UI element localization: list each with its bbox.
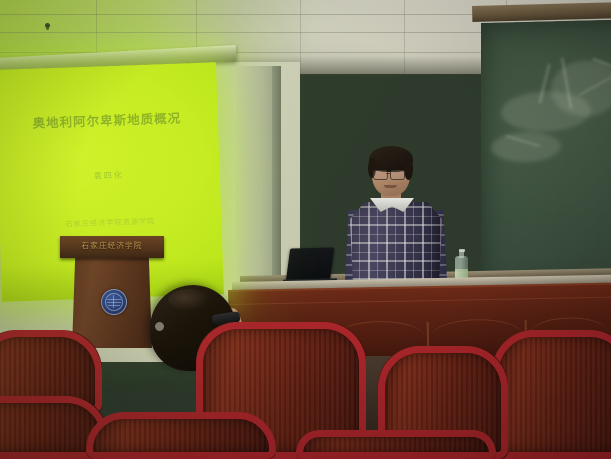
glasses-icon	[390, 170, 405, 180]
audience-hair-highlight	[168, 289, 210, 311]
glasses-bridge	[386, 173, 391, 174]
stage-moulding	[228, 297, 611, 305]
seat	[296, 430, 496, 459]
hair-clip-icon	[155, 322, 164, 331]
slide-title: 奥地利阿尔卑斯地质概况	[0, 106, 218, 133]
blackboard-panel-left	[481, 17, 611, 291]
laptop-icon	[286, 247, 335, 282]
podium-top: 石家庄经济学院	[60, 236, 164, 258]
bottle-cap	[459, 249, 465, 252]
glasses-icon	[373, 170, 388, 180]
seat	[86, 412, 276, 459]
sprinkler-icon	[45, 23, 50, 28]
speaker-person	[340, 150, 452, 295]
slide-author: 袁四化	[0, 166, 220, 185]
lecture-hall-photo: 奥地利阿尔卑斯地质概况 袁四化 石家庄经济学院资源学院 石家庄经济学院	[0, 0, 611, 459]
slide-affiliation: 石家庄经济学院资源学院	[0, 214, 222, 232]
blackboard-frame-top	[472, 0, 611, 22]
podium-nameplate: 石家庄经济学院	[60, 240, 164, 251]
speaker-hair-right	[404, 158, 413, 180]
seat	[492, 330, 611, 459]
speaker-mouth	[384, 185, 397, 188]
crest-inner-ring	[105, 293, 123, 311]
